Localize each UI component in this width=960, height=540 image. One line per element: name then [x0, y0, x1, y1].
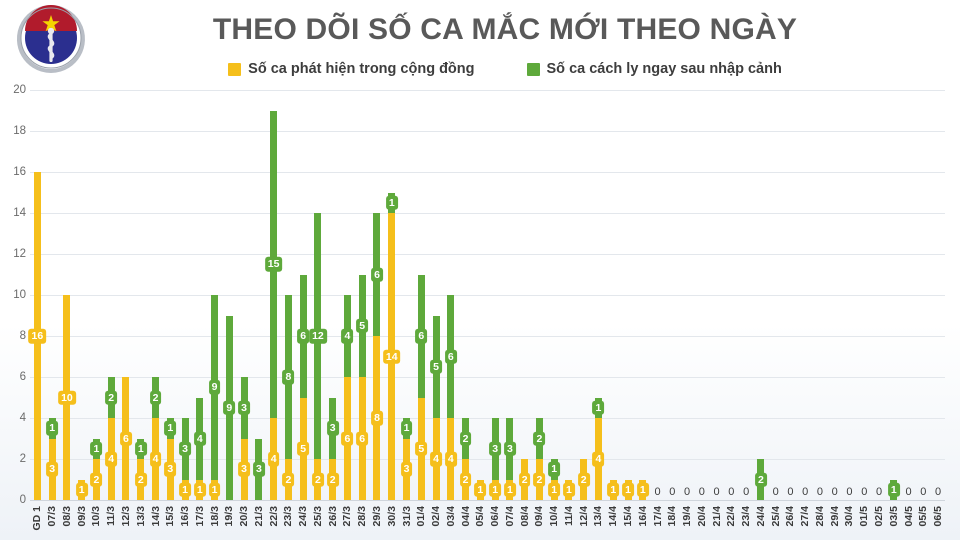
- y-axis-tick: 14: [0, 207, 26, 219]
- bar-segment-community[interactable]: 5: [418, 398, 425, 501]
- bar-segment-quarantine[interactable]: 3: [506, 418, 513, 480]
- bar-value-label: 2: [578, 472, 590, 487]
- x-axis-tick-slot: 19/4: [680, 504, 695, 540]
- bar-column[interactable]: 0: [768, 90, 783, 500]
- bar-column[interactable]: 0: [798, 90, 813, 500]
- x-axis-tick: 07/4: [504, 506, 516, 526]
- bar-column[interactable]: 0: [901, 90, 916, 500]
- bar-column[interactable]: 6: [119, 90, 134, 500]
- bar-column[interactable]: 10: [60, 90, 75, 500]
- bar-segment-quarantine[interactable]: 5: [359, 275, 366, 378]
- bar-segment-quarantine[interactable]: 1: [890, 480, 897, 501]
- chart-legend: Số ca phát hiện trong cộng đồng Số ca cá…: [110, 56, 900, 82]
- bar-value-label: 0: [817, 487, 823, 498]
- x-axis-tick-slot: 09/3: [74, 504, 89, 540]
- x-axis-tick-slot: 10/4: [547, 504, 562, 540]
- bar-value-label: 10: [58, 390, 76, 405]
- y-axis-tick: 16: [0, 166, 26, 178]
- bar-value-label: 0: [669, 487, 675, 498]
- x-axis-tick: 18/4: [666, 506, 678, 526]
- bar-column[interactable]: 68: [370, 90, 385, 500]
- bar-value-label: 1: [622, 483, 634, 498]
- y-axis-tick: 12: [0, 248, 26, 260]
- x-axis-tick-slot: 08/4: [517, 504, 532, 540]
- page-title: THEO DÕI SỐ CA MẮC MỚI THEO NGÀY: [110, 8, 900, 52]
- bar-segment-quarantine[interactable]: 3: [329, 398, 336, 460]
- x-axis-tick: 10/3: [90, 506, 102, 526]
- bar-segment-quarantine[interactable]: 1: [167, 418, 174, 439]
- bar-segment-community[interactable]: 10: [63, 295, 70, 500]
- bar-segment-community[interactable]: 14: [388, 213, 395, 500]
- bar-column[interactable]: 0: [665, 90, 680, 500]
- x-axis-tick: 11/3: [105, 506, 117, 526]
- bar-segment-quarantine[interactable]: 1: [551, 459, 558, 480]
- gridline: [30, 500, 945, 501]
- x-axis-tick-slot: 18/3: [207, 504, 222, 540]
- bar-segment-quarantine[interactable]: 3: [241, 377, 248, 439]
- legend-swatch-quarantine-icon: [527, 63, 540, 76]
- bar-column[interactable]: 41: [192, 90, 207, 500]
- x-axis-tick: 23/3: [282, 506, 294, 526]
- bar-value-label: 1: [563, 483, 575, 498]
- bar-value-label: 2: [327, 472, 339, 487]
- bar-value-label: 2: [105, 390, 117, 405]
- bar-column[interactable]: 114: [384, 90, 399, 500]
- x-axis-tick: 28/4: [814, 506, 826, 526]
- bar-segment-community[interactable]: 16: [34, 172, 41, 500]
- bar-segment-quarantine[interactable]: 6: [418, 275, 425, 398]
- bar-segment-quarantine[interactable]: 5: [433, 316, 440, 419]
- bar-segment-community[interactable]: 2: [285, 459, 292, 500]
- bar-segment-quarantine[interactable]: 2: [462, 418, 469, 459]
- x-axis-tick-slot: 16/3: [178, 504, 193, 540]
- bar-segment-quarantine[interactable]: 9: [226, 316, 233, 501]
- bar-column[interactable]: 11: [547, 90, 562, 500]
- bar-segment-community[interactable]: 4: [152, 418, 159, 500]
- x-axis-tick: 16/4: [637, 506, 649, 526]
- bar-segment-quarantine[interactable]: 6: [373, 213, 380, 336]
- bar-segment-quarantine[interactable]: 4: [344, 295, 351, 377]
- bar-column[interactable]: 65: [414, 90, 429, 500]
- bar-value-label: 1: [209, 483, 221, 498]
- bar-segment-quarantine[interactable]: 2: [152, 377, 159, 418]
- bar-value-label: 1: [179, 483, 191, 498]
- x-axis-tick: 09/3: [76, 506, 88, 526]
- x-axis-tick: 18/3: [209, 506, 221, 526]
- bar-segment-community[interactable]: 1: [625, 480, 632, 501]
- bar-segment-community[interactable]: 4: [270, 418, 277, 500]
- x-axis-tick-slot: 03/5: [886, 504, 901, 540]
- bar-column[interactable]: 0: [872, 90, 887, 500]
- x-axis-tick-slot: 20/4: [694, 504, 709, 540]
- bar-segment-quarantine[interactable]: 1: [403, 418, 410, 439]
- bar-column[interactable]: 31: [178, 90, 193, 500]
- bar-value-label: 0: [654, 487, 660, 498]
- bar-segment-community[interactable]: 6: [122, 377, 129, 500]
- bar-column[interactable]: 54: [429, 90, 444, 500]
- bar-value-label: 3: [489, 442, 501, 457]
- bar-value-label: 6: [371, 267, 383, 282]
- bar-segment-community[interactable]: 1: [506, 480, 513, 501]
- x-axis-tick: 17/4: [652, 506, 664, 526]
- x-axis-tick: 26/4: [784, 506, 796, 526]
- bar-value-label: 2: [460, 431, 472, 446]
- x-axis-tick: 04/5: [903, 506, 915, 526]
- bar-segment-quarantine[interactable]: 6: [447, 295, 454, 418]
- bar-segment-quarantine[interactable]: 2: [536, 418, 543, 459]
- bar-segment-community[interactable]: 2: [314, 459, 321, 500]
- bar-column[interactable]: 0: [827, 90, 842, 500]
- x-axis-tick-slot: 02/5: [872, 504, 887, 540]
- bar-segment-community[interactable]: 2: [536, 459, 543, 500]
- bar-value-label: 2: [460, 472, 472, 487]
- bar-column[interactable]: 82: [281, 90, 296, 500]
- bar-column[interactable]: 12: [89, 90, 104, 500]
- y-axis-tick: 4: [0, 412, 26, 424]
- x-axis-tick-slot: 04/5: [901, 504, 916, 540]
- chart-plot-area: 02468101214161820 1613101122461224133141…: [0, 90, 960, 540]
- x-axis-tick: 30/4: [843, 506, 855, 526]
- bar-value-label: 9: [209, 380, 221, 395]
- bar-segment-community[interactable]: 2: [580, 459, 587, 500]
- x-axis-tick-slot: 04/4: [458, 504, 473, 540]
- x-axis-tick-slot: 23/4: [739, 504, 754, 540]
- x-axis-tick: 11/4: [563, 506, 575, 526]
- bar-segment-quarantine[interactable]: 1: [388, 193, 395, 214]
- x-axis-tick: 13/3: [135, 506, 147, 526]
- bar-value-label: 0: [832, 487, 838, 498]
- bar-value-label: 5: [430, 360, 442, 375]
- bar-column[interactable]: 1: [886, 90, 901, 500]
- x-axis-tick-slot: 25/4: [768, 504, 783, 540]
- bar-column[interactable]: 3: [251, 90, 266, 500]
- x-axis-tick: 01/5: [858, 506, 870, 526]
- bar-segment-community[interactable]: 1: [78, 480, 85, 501]
- bar-column[interactable]: 0: [813, 90, 828, 500]
- x-axis-tick-slot: 24/3: [296, 504, 311, 540]
- x-axis-tick: 24/4: [755, 506, 767, 526]
- bar-segment-community[interactable]: 1: [610, 480, 617, 501]
- x-axis-tick-slot: 20/3: [237, 504, 252, 540]
- bar-value-label: 1: [548, 483, 560, 498]
- bar-value-label: 0: [876, 487, 882, 498]
- bar-segment-quarantine[interactable]: 2: [757, 459, 764, 500]
- bar-value-label: 1: [593, 401, 605, 416]
- bar-column[interactable]: 0: [842, 90, 857, 500]
- bar-column[interactable]: 24: [148, 90, 163, 500]
- bar-segment-community[interactable]: 2: [462, 459, 469, 500]
- bar-value-label: 9: [223, 401, 235, 416]
- x-axis-tick-slot: 27/3: [340, 504, 355, 540]
- bar-value-label: 3: [504, 442, 516, 457]
- bar-value-label: 1: [504, 483, 516, 498]
- bar-value-label: 3: [179, 442, 191, 457]
- bar-column[interactable]: 1: [635, 90, 650, 500]
- bar-value-label: 2: [533, 431, 545, 446]
- x-axis-tick: 22/4: [725, 506, 737, 526]
- bar-segment-quarantine[interactable]: 15: [270, 111, 277, 419]
- x-axis-tick: 05/5: [917, 506, 929, 526]
- x-axis-tick: 06/5: [932, 506, 944, 526]
- bar-column[interactable]: 2: [576, 90, 591, 500]
- bar-segment-community[interactable]: 4: [433, 418, 440, 500]
- bar-column[interactable]: 0: [916, 90, 931, 500]
- bar-column[interactable]: 0: [650, 90, 665, 500]
- bar-value-label: 4: [593, 452, 605, 467]
- x-axis-tick-slot: 01/5: [857, 504, 872, 540]
- bar-value-label: 6: [356, 431, 368, 446]
- bar-value-label: 1: [46, 421, 58, 436]
- x-axis-tick-slot: 06/4: [488, 504, 503, 540]
- bar-value-label: 6: [445, 349, 457, 364]
- bar-value-label: 2: [135, 472, 147, 487]
- bar-segment-community[interactable]: 2: [521, 459, 528, 500]
- x-axis-tick: 30/3: [386, 506, 398, 526]
- bar-column[interactable]: 1: [473, 90, 488, 500]
- bar-column[interactable]: 0: [857, 90, 872, 500]
- bar-segment-quarantine[interactable]: 9: [211, 295, 218, 480]
- chart-bars: 1613101122461224133141919333154826512232…: [30, 90, 945, 500]
- bar-value-label: 15: [265, 257, 283, 272]
- bar-column[interactable]: 91: [207, 90, 222, 500]
- y-axis-tick: 0: [0, 494, 26, 506]
- x-axis-tick-slot: 17/3: [192, 504, 207, 540]
- bar-column[interactable]: 14: [591, 90, 606, 500]
- bar-segment-community[interactable]: 3: [241, 439, 248, 501]
- bar-value-label: 5: [415, 442, 427, 457]
- bar-value-label: 1: [474, 483, 486, 498]
- legend-label-community: Số ca phát hiện trong cộng đồng: [248, 61, 474, 77]
- bar-column[interactable]: 13: [163, 90, 178, 500]
- x-axis-tick-slot: 28/4: [813, 504, 828, 540]
- bar-segment-community[interactable]: 5: [300, 398, 307, 501]
- bar-value-label: 2: [755, 472, 767, 487]
- x-axis-tick-slot: 06/5: [931, 504, 946, 540]
- bar-column[interactable]: 24: [104, 90, 119, 500]
- legend-item-quarantine: Số ca cách ly ngay sau nhập cảnh: [527, 61, 782, 77]
- bar-segment-quarantine[interactable]: 3: [255, 439, 262, 501]
- y-axis-tick: 18: [0, 125, 26, 137]
- bar-column[interactable]: 1: [621, 90, 636, 500]
- bar-segment-community[interactable]: 2: [137, 459, 144, 500]
- bar-segment-community[interactable]: 1: [211, 480, 218, 501]
- bar-value-label: 0: [935, 487, 941, 498]
- bar-column[interactable]: 13: [399, 90, 414, 500]
- bar-column[interactable]: 0: [783, 90, 798, 500]
- bar-segment-community[interactable]: 1: [639, 480, 646, 501]
- bar-column[interactable]: 0: [739, 90, 754, 500]
- bar-value-label: 0: [743, 487, 749, 498]
- bar-column[interactable]: 1: [606, 90, 621, 500]
- bar-column[interactable]: 0: [724, 90, 739, 500]
- bar-segment-quarantine[interactable]: 4: [196, 398, 203, 480]
- bar-segment-community[interactable]: 1: [565, 480, 572, 501]
- bar-value-label: 4: [105, 452, 117, 467]
- y-axis-tick: 8: [0, 330, 26, 342]
- bar-value-label: 3: [401, 462, 413, 477]
- bar-segment-quarantine[interactable]: 1: [93, 439, 100, 460]
- bar-column[interactable]: 65: [296, 90, 311, 500]
- bar-value-label: 6: [120, 431, 132, 446]
- x-axis-tick: 12/3: [120, 506, 132, 526]
- bar-value-label: 1: [489, 483, 501, 498]
- x-axis-tick: 03/4: [445, 506, 457, 526]
- bar-value-label: 1: [888, 483, 900, 498]
- bar-column[interactable]: 1: [74, 90, 89, 500]
- x-axis-tick: 27/3: [341, 506, 353, 526]
- x-axis-tick-slot: 15/3: [163, 504, 178, 540]
- bar-column[interactable]: 0: [709, 90, 724, 500]
- bar-column[interactable]: 122: [311, 90, 326, 500]
- x-axis-tick: 23/4: [740, 506, 752, 526]
- bar-segment-community[interactable]: 2: [329, 459, 336, 500]
- bar-segment-community[interactable]: 6: [344, 377, 351, 500]
- bar-column[interactable]: 2: [517, 90, 532, 500]
- bar-value-label: 4: [445, 452, 457, 467]
- x-axis-tick: 24/3: [297, 506, 309, 526]
- bar-column[interactable]: 32: [325, 90, 340, 500]
- x-axis-tick-slot: 21/4: [709, 504, 724, 540]
- bar-segment-quarantine[interactable]: 1: [137, 439, 144, 460]
- x-axis-tick-slot: 30/3: [384, 504, 399, 540]
- bar-value-label: 8: [371, 411, 383, 426]
- bar-column[interactable]: 64: [443, 90, 458, 500]
- x-axis-tick-slot: 22/4: [724, 504, 739, 540]
- x-axis-tick: 08/4: [519, 506, 531, 526]
- bar-value-label: 0: [787, 487, 793, 498]
- bar-value-label: 1: [637, 483, 649, 498]
- x-axis-tick: 20/4: [696, 506, 708, 526]
- x-axis-tick-slot: 05/5: [916, 504, 931, 540]
- bar-segment-community[interactable]: 4: [595, 418, 602, 500]
- bar-column[interactable]: 0: [931, 90, 946, 500]
- bar-value-label: 3: [238, 401, 250, 416]
- bar-value-label: 2: [312, 472, 324, 487]
- bar-value-label: 1: [76, 483, 88, 498]
- x-axis-tick-slot: 23/3: [281, 504, 296, 540]
- bar-column[interactable]: 56: [355, 90, 370, 500]
- bar-value-label: 0: [699, 487, 705, 498]
- bar-segment-quarantine[interactable]: 12: [314, 213, 321, 459]
- bar-segment-community[interactable]: 4: [447, 418, 454, 500]
- bar-column[interactable]: 12: [133, 90, 148, 500]
- bar-value-label: 2: [150, 390, 162, 405]
- x-axis-tick-slot: 12/4: [576, 504, 591, 540]
- bar-value-label: 1: [607, 483, 619, 498]
- x-axis-tick: 01/4: [415, 506, 427, 526]
- bar-value-label: 1: [164, 421, 176, 436]
- x-axis-tick-slot: 03/4: [443, 504, 458, 540]
- x-axis-tick: 16/3: [179, 506, 191, 526]
- bar-value-label: 0: [773, 487, 779, 498]
- y-axis-tick: 6: [0, 371, 26, 383]
- x-axis-tick: 21/3: [253, 506, 265, 526]
- bar-column[interactable]: 31: [488, 90, 503, 500]
- x-axis-tick: 05/4: [474, 506, 486, 526]
- x-axis-tick: 28/3: [356, 506, 368, 526]
- bar-value-label: 8: [282, 370, 294, 385]
- bar-segment-community[interactable]: 4: [108, 418, 115, 500]
- x-axis-tick-slot: 14/4: [606, 504, 621, 540]
- x-axis-tick-slot: 12/3: [119, 504, 134, 540]
- x-axis-tick-slot: 29/3: [370, 504, 385, 540]
- bar-segment-community[interactable]: 2: [93, 459, 100, 500]
- x-axis-tick-slot: 27/4: [798, 504, 813, 540]
- bar-segment-community[interactable]: 1: [477, 480, 484, 501]
- bar-column[interactable]: 33: [237, 90, 252, 500]
- x-axis-tick: 10/4: [548, 506, 560, 526]
- bar-value-label: 0: [684, 487, 690, 498]
- bar-segment-community[interactable]: 1: [551, 480, 558, 501]
- bar-value-label: 16: [29, 329, 47, 344]
- bar-column[interactable]: 9: [222, 90, 237, 500]
- bar-value-label: 1: [91, 442, 103, 457]
- x-axis-tick-slot: 07/4: [503, 504, 518, 540]
- bar-value-label: 6: [342, 431, 354, 446]
- bar-segment-community[interactable]: 3: [403, 439, 410, 501]
- bar-segment-community[interactable]: 8: [373, 336, 380, 500]
- bar-value-label: 0: [905, 487, 911, 498]
- bar-column[interactable]: 13: [45, 90, 60, 500]
- x-axis-tick-slot: 29/4: [827, 504, 842, 540]
- bar-segment-quarantine[interactable]: 6: [300, 275, 307, 398]
- bar-segment-community[interactable]: 1: [492, 480, 499, 501]
- bar-column[interactable]: 22: [458, 90, 473, 500]
- x-axis-tick-slot: 26/3: [325, 504, 340, 540]
- bar-segment-community[interactable]: 1: [182, 480, 189, 501]
- bar-column[interactable]: 31: [503, 90, 518, 500]
- x-axis-tick: 25/4: [770, 506, 782, 526]
- bar-segment-quarantine[interactable]: 8: [285, 295, 292, 459]
- bar-column[interactable]: 0: [694, 90, 709, 500]
- bar-segment-community[interactable]: 3: [167, 439, 174, 501]
- x-axis-tick: 19/4: [681, 506, 693, 526]
- bar-column[interactable]: 16: [30, 90, 45, 500]
- x-axis-tick-slot: 09/4: [532, 504, 547, 540]
- bar-segment-community[interactable]: 6: [359, 377, 366, 500]
- bar-segment-community[interactable]: 3: [49, 439, 56, 501]
- bar-value-label: 3: [46, 462, 58, 477]
- x-axis-tick-slot: 07/3: [45, 504, 60, 540]
- bar-column[interactable]: 1: [562, 90, 577, 500]
- legend-item-community: Số ca phát hiện trong cộng đồng: [228, 61, 474, 77]
- x-axis-tick: 12/4: [578, 506, 590, 526]
- bar-column[interactable]: 2: [754, 90, 769, 500]
- x-axis-tick: 29/3: [371, 506, 383, 526]
- bar-segment-quarantine[interactable]: 2: [108, 377, 115, 418]
- y-axis-tick: 2: [0, 453, 26, 465]
- bar-column[interactable]: 22: [532, 90, 547, 500]
- bar-segment-quarantine[interactable]: 3: [492, 418, 499, 480]
- bar-value-label: 12: [309, 329, 327, 344]
- bar-segment-quarantine[interactable]: 1: [49, 418, 56, 439]
- bar-segment-quarantine[interactable]: 3: [182, 418, 189, 480]
- x-axis-tick-slot: 02/4: [429, 504, 444, 540]
- bar-value-label: 2: [533, 472, 545, 487]
- x-axis-tick-slot: 25/3: [311, 504, 326, 540]
- bar-column[interactable]: 0: [680, 90, 695, 500]
- bar-value-label: 1: [386, 196, 398, 211]
- bar-value-label: 4: [194, 431, 206, 446]
- bar-value-label: 1: [135, 442, 147, 457]
- x-axis-tick-slot: 21/3: [251, 504, 266, 540]
- bar-column[interactable]: 154: [266, 90, 281, 500]
- bar-segment-community[interactable]: 1: [196, 480, 203, 501]
- bar-segment-quarantine[interactable]: 1: [595, 398, 602, 419]
- x-axis-tick: 27/4: [799, 506, 811, 526]
- bar-column[interactable]: 46: [340, 90, 355, 500]
- x-axis-tick: 25/3: [312, 506, 324, 526]
